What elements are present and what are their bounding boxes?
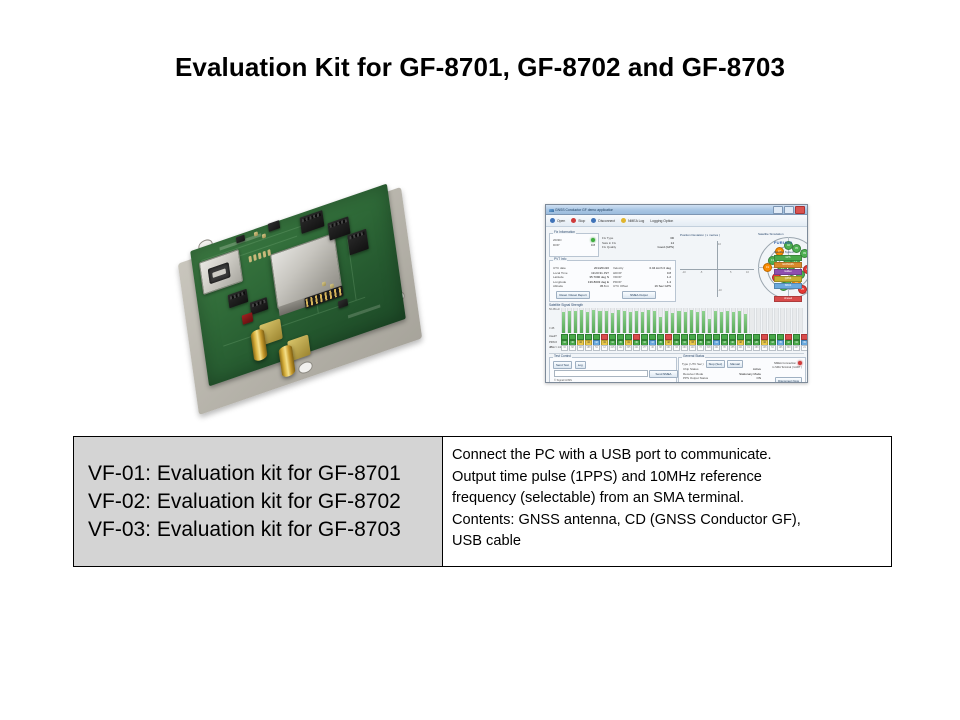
- fix-panel-caption: Fix Information: [553, 230, 576, 234]
- log-icon: [621, 218, 626, 223]
- cn0-cell: 188: [585, 345, 592, 351]
- cn0-cell: 291: [665, 345, 672, 351]
- cn0-cell: 283: [753, 345, 760, 351]
- signal-bar-fill: [684, 312, 687, 334]
- section-divider: [549, 353, 804, 354]
- signal-bar-fill: [647, 310, 650, 333]
- toolbar-label: Disconnect: [598, 219, 615, 223]
- disconnect-icon: [591, 218, 596, 223]
- cn0-cell: 260: [681, 345, 688, 351]
- legend-item: GLONASS: [774, 262, 802, 268]
- signal-bar-fill: [611, 313, 614, 334]
- cn0-cell: 305: [625, 345, 632, 351]
- signal-bar-fill: [702, 311, 705, 334]
- signal-bar-fill: [659, 317, 662, 334]
- kit-line-vf03: VF-03: Evaluation kit for GF-8703: [88, 516, 442, 544]
- signal-bar-fill: [696, 312, 699, 333]
- signal-bar-slot: [689, 308, 694, 333]
- desc-line-3: frequency (selectable) from an SMA termi…: [452, 488, 891, 510]
- legend-item: QZSS: [774, 276, 802, 282]
- signal-bar-fill: [629, 312, 632, 334]
- toolbar-label: Logging Option: [650, 219, 673, 223]
- cn0-cell: 221: [633, 345, 640, 351]
- signal-bar-slot: [676, 308, 681, 333]
- spec-table-right-cell: Connect the PC with a USB port to commun…: [443, 437, 891, 566]
- connection-led: [798, 361, 802, 365]
- signal-bar-fill: [592, 310, 595, 334]
- cn0-cell: 21: [801, 345, 808, 351]
- minimize-icon[interactable]: [773, 206, 783, 214]
- signal-bar-slot: [634, 308, 639, 333]
- fix-detail-rows: Fix Type 3D Sats in Fix 14 Fix Quality G…: [602, 236, 674, 250]
- row-label-used: Used?: [549, 335, 557, 338]
- test-control-tabs[interactable]: Send Test Log: [553, 361, 586, 369]
- sky-plot-caption: Satellite Simulation: [758, 232, 808, 236]
- cn0-cell: 122: [617, 345, 624, 351]
- signal-bar-slot: [762, 308, 767, 333]
- cn0-cell: 46: [649, 345, 656, 351]
- software-screenshot: GNSS Conductor GF demo application Open …: [545, 204, 808, 383]
- cn0-cell: 330: [785, 345, 792, 351]
- signal-bar-slot: [658, 308, 663, 333]
- status-value: GPS/GLONASS: [739, 381, 761, 383]
- signal-bar-slot: [792, 308, 797, 333]
- toolbar-button-stop[interactable]: Stop: [571, 218, 585, 223]
- product-photo: [176, 196, 444, 396]
- signal-bar-chart: [561, 308, 803, 333]
- satellite-signal-strength-panel: Satellite Signal Strength 50 dB-Hz 0 dB …: [549, 303, 804, 351]
- signal-bar-fill: [598, 311, 601, 333]
- toolbar-label: Stop: [578, 219, 585, 223]
- cn0-cell: 108: [761, 345, 768, 351]
- signal-bar-slot: [774, 308, 779, 333]
- send-nmea-button[interactable]: Send NMEA: [649, 370, 678, 378]
- satellite-system-legend: Satellite System GPS GLONASS Galileo QZS…: [774, 250, 802, 303]
- cn0-cell: 247: [793, 345, 800, 351]
- signal-bar-slot: [585, 308, 590, 333]
- signal-bar-slot: [786, 308, 791, 333]
- cn0-cell: 72: [697, 345, 704, 351]
- fix-information-panel: Fix Information 2D/3D DOP 0.8: [549, 233, 599, 257]
- satellite-marker[interactable]: 19: [763, 263, 772, 272]
- pvt-info-panel: PVT Info UTC date2014/01/20 Local Time19…: [549, 260, 676, 302]
- pvt-label: UTC Offset: [613, 284, 628, 289]
- signal-bar-slot: [646, 308, 651, 333]
- cn0-cell: 318: [705, 345, 712, 351]
- test-control-caption: Test Control: [553, 354, 572, 358]
- signal-bar-slot: [695, 308, 700, 333]
- signal-bar-slot: [737, 308, 742, 333]
- cn0-cell: 68: [569, 345, 576, 351]
- pcb-stage: [176, 196, 444, 396]
- fix-row-label: Fix Quality: [602, 245, 616, 250]
- signal-bar-fill: [690, 310, 693, 333]
- signal-panel-caption: Satellite Signal Strength: [549, 303, 804, 307]
- toolbar-button-logging-option[interactable]: Logging Option: [650, 219, 673, 223]
- signal-bar-fill: [744, 314, 747, 334]
- legend-caption: Satellite System: [774, 250, 802, 254]
- cn0-cell: 196: [777, 345, 784, 351]
- maximize-icon[interactable]: [784, 206, 794, 214]
- signal-bar-fill: [726, 311, 729, 334]
- cn0-cell: 129: [577, 345, 584, 351]
- signal-bar-fill: [580, 310, 583, 333]
- satellite-marker[interactable]: 12: [807, 254, 808, 263]
- signal-bar-fill: [708, 319, 711, 333]
- signal-bar-fill: [738, 311, 741, 333]
- signal-bar-slot: [664, 308, 669, 333]
- signal-bar-fill: [714, 311, 717, 333]
- signal-y-bottom-label: 0 dB: [549, 327, 554, 330]
- open-icon: [550, 218, 555, 223]
- signal-bar-fill: [677, 311, 680, 333]
- desc-line-2: Output time pulse (1PPS) and 10MHz refer…: [452, 467, 891, 489]
- cn0-cell: 34: [561, 345, 568, 351]
- general-status-tab-caption: Type ( UTC Sec ): [682, 362, 704, 366]
- position-deviation-plot: Position Deviation ( x metres ) -10 -5 5…: [680, 233, 754, 299]
- x-tick: -5: [700, 271, 702, 274]
- legend-item: SBAS: [774, 283, 802, 289]
- test-control-panel: Test Control Send Test Log Send NMEA © S…: [549, 357, 677, 383]
- signal-bar-slot: [707, 308, 712, 333]
- cn0-cell: 12: [601, 345, 608, 351]
- signal-bar-slot: [604, 308, 609, 333]
- toolbar-label: NMEA Log: [628, 219, 644, 223]
- signal-bar-fill: [568, 311, 571, 334]
- signal-bar-slot: [701, 308, 706, 333]
- signal-bar-fill: [605, 311, 608, 334]
- signal-bar-slot: [616, 308, 621, 333]
- legend-item: GPS: [774, 255, 802, 261]
- kit-line-vf01: VF-01: Evaluation kit for GF-8701: [88, 460, 442, 488]
- desc-line-4: Contents: GNSS antenna, CD (GNSS Conduct…: [452, 510, 891, 532]
- x-tick: 5: [730, 271, 731, 274]
- sw-title-bar: GNSS Conductor GF demo application: [546, 205, 807, 215]
- cn0-cell: 241: [737, 345, 744, 351]
- signal-bar-fill: [562, 312, 565, 333]
- sw-toolbar[interactable]: Open Stop Disconnect NMEA Log Logging Op…: [546, 215, 807, 227]
- signal-bar-slot: [743, 308, 748, 333]
- close-icon[interactable]: [795, 206, 805, 214]
- pvt-value: 16 Sec GPS: [654, 284, 671, 289]
- signal-bar-fill: [574, 311, 577, 333]
- reset-report-button[interactable]: Reset / Reset Report: [556, 291, 590, 299]
- cn0-cell: 64: [769, 345, 776, 351]
- signal-bar-slot: [670, 308, 675, 333]
- general-status-panel: General Status Type ( UTC Sec ) Stop (Se…: [678, 357, 806, 383]
- signal-bar-slot: [768, 308, 773, 333]
- usb-port-opening: [208, 262, 231, 284]
- desc-line-1: Connect the PC with a USB port to commun…: [452, 445, 891, 467]
- uart-terminal-label: to SMA Terminal ( UART ): [764, 366, 802, 369]
- software-footer: © Signal GNSS: [554, 379, 572, 382]
- pvt-col-left: UTC date2014/01/20 Local Time19:20:31 JS…: [553, 266, 609, 289]
- signal-bar-fill: [732, 312, 735, 333]
- signal-bar-slot: [749, 308, 754, 333]
- status-label: GNSS synchronised with: [683, 381, 716, 383]
- toolbar-button-nmea-log[interactable]: NMEA Log: [621, 218, 644, 223]
- nmea-command-input[interactable]: [554, 370, 648, 377]
- signal-bar-fill: [671, 313, 674, 334]
- signal-bar-slot: [573, 308, 578, 333]
- signal-bar-slot: [628, 308, 633, 333]
- general-status-rows: Chip StatusActive Receiver ModeStationar…: [683, 367, 761, 383]
- sw-window-title: GNSS Conductor GF demo application: [548, 208, 613, 212]
- pvt-col-right: Velocity0.04 km/h 0 deg HDOP0.8 VDOP1.2 …: [613, 266, 671, 289]
- signal-y-top-label: 50 dB-Hz: [549, 308, 560, 311]
- signal-bar-slot: [798, 308, 803, 333]
- brand-logo: FURUNO: [774, 240, 792, 245]
- page-title: Evaluation Kit for GF-8701, GF-8702 and …: [0, 52, 960, 83]
- signal-bar-fill: [641, 312, 644, 333]
- signal-bar-slot: [713, 308, 718, 333]
- y-tick: 10: [718, 243, 721, 246]
- signal-bar-slot: [597, 308, 602, 333]
- desc-line-5: USB cable: [452, 531, 891, 553]
- signal-bar-slot: [640, 308, 645, 333]
- fix-row: Fix Quality Good (GPS): [602, 245, 674, 250]
- status-led-green: [591, 238, 595, 242]
- cn0-cell: 140: [689, 345, 696, 351]
- signal-bar-fill: [653, 311, 656, 333]
- signal-bar-fill: [635, 311, 638, 334]
- fix-status-label: DOP: [553, 243, 560, 248]
- x-tick: 10: [746, 271, 749, 274]
- window-controls[interactable]: [773, 206, 805, 214]
- toolbar-label: Open: [557, 219, 565, 223]
- signal-bar-slot: [731, 308, 736, 333]
- toolbar-button-open[interactable]: Open: [550, 218, 565, 223]
- signal-bar-fill: [720, 312, 723, 334]
- legend-item: Unused: [774, 296, 802, 302]
- fix-status-row: DOP 0.8: [553, 243, 595, 248]
- signal-bar-slot: [780, 308, 785, 333]
- stop-icon: [571, 218, 576, 223]
- tab-log[interactable]: Log: [575, 361, 586, 369]
- signal-bar-slot: [561, 308, 566, 333]
- signal-bar-slot: [725, 308, 730, 333]
- kit-line-vf02: VF-02: Evaluation kit for GF-8702: [88, 488, 442, 516]
- nmea-connection-label: NMEA Connection: [774, 362, 796, 365]
- signal-bar-slot: [591, 308, 596, 333]
- signal-bar-fill: [665, 311, 668, 334]
- signal-bar-slot: [756, 308, 761, 333]
- signal-bar-fill: [586, 312, 589, 334]
- fix-status-value: 0.8: [591, 243, 595, 248]
- nmea-output-button[interactable]: NMEA Output: [622, 291, 656, 299]
- spec-table: VF-01: Evaluation kit for GF-8701 VF-02:…: [73, 436, 892, 567]
- sw-body: Fix Information 2D/3D DOP 0.8 Fix Type: [546, 227, 807, 383]
- cn0-cell: 54: [593, 345, 600, 351]
- connection-side-panel: NMEA Connection to SMA Terminal ( UART )…: [764, 361, 802, 383]
- tab-send-test[interactable]: Send Test: [553, 361, 572, 369]
- cn0-cell: 19: [745, 345, 752, 351]
- cn0-row: 3468129188541221512230522117746882913326…: [561, 345, 808, 351]
- fix-row-value: Good (GPS): [657, 245, 674, 250]
- cn0-cell: 88: [657, 345, 664, 351]
- signal-bar-slot: [683, 308, 688, 333]
- signal-bar-slot: [622, 308, 627, 333]
- signal-bar-fill: [617, 310, 620, 333]
- pvt-label: Altitude: [553, 284, 563, 289]
- spec-table-left-cell: VF-01: Evaluation kit for GF-8701 VF-02:…: [74, 437, 443, 566]
- cn0-cell: 215: [609, 345, 616, 351]
- position-plot-caption: Position Deviation ( x metres ): [680, 233, 754, 237]
- general-status-caption: General Status: [682, 354, 705, 358]
- signal-bar-slot: [652, 308, 657, 333]
- cn0-cell: 201: [713, 345, 720, 351]
- signal-bar-slot: [567, 308, 572, 333]
- cn0-cell: 95: [721, 345, 728, 351]
- signal-bar-slot: [610, 308, 615, 333]
- x-tick: -10: [682, 271, 686, 274]
- row-label-prn: PRN #: [549, 341, 557, 344]
- cn0-cell: 177: [641, 345, 648, 351]
- signal-bar-slot: [579, 308, 584, 333]
- toolbar-button-disconnect[interactable]: Disconnect: [591, 218, 615, 223]
- disconnect-now-button[interactable]: Disconnect Now: [775, 377, 802, 383]
- cn0-cell: 155: [729, 345, 736, 351]
- signal-bar-fill: [623, 311, 626, 333]
- pvt-panel-caption: PVT Info: [553, 257, 567, 261]
- legend-item: Galileo: [774, 269, 802, 275]
- cn0-cell: 33: [673, 345, 680, 351]
- slide-root: Evaluation Kit for GF-8701, GF-8702 and …: [0, 0, 960, 720]
- signal-bar-slot: [719, 308, 724, 333]
- pvt-value: 45.6 m: [600, 284, 609, 289]
- y-tick: -10: [718, 289, 722, 292]
